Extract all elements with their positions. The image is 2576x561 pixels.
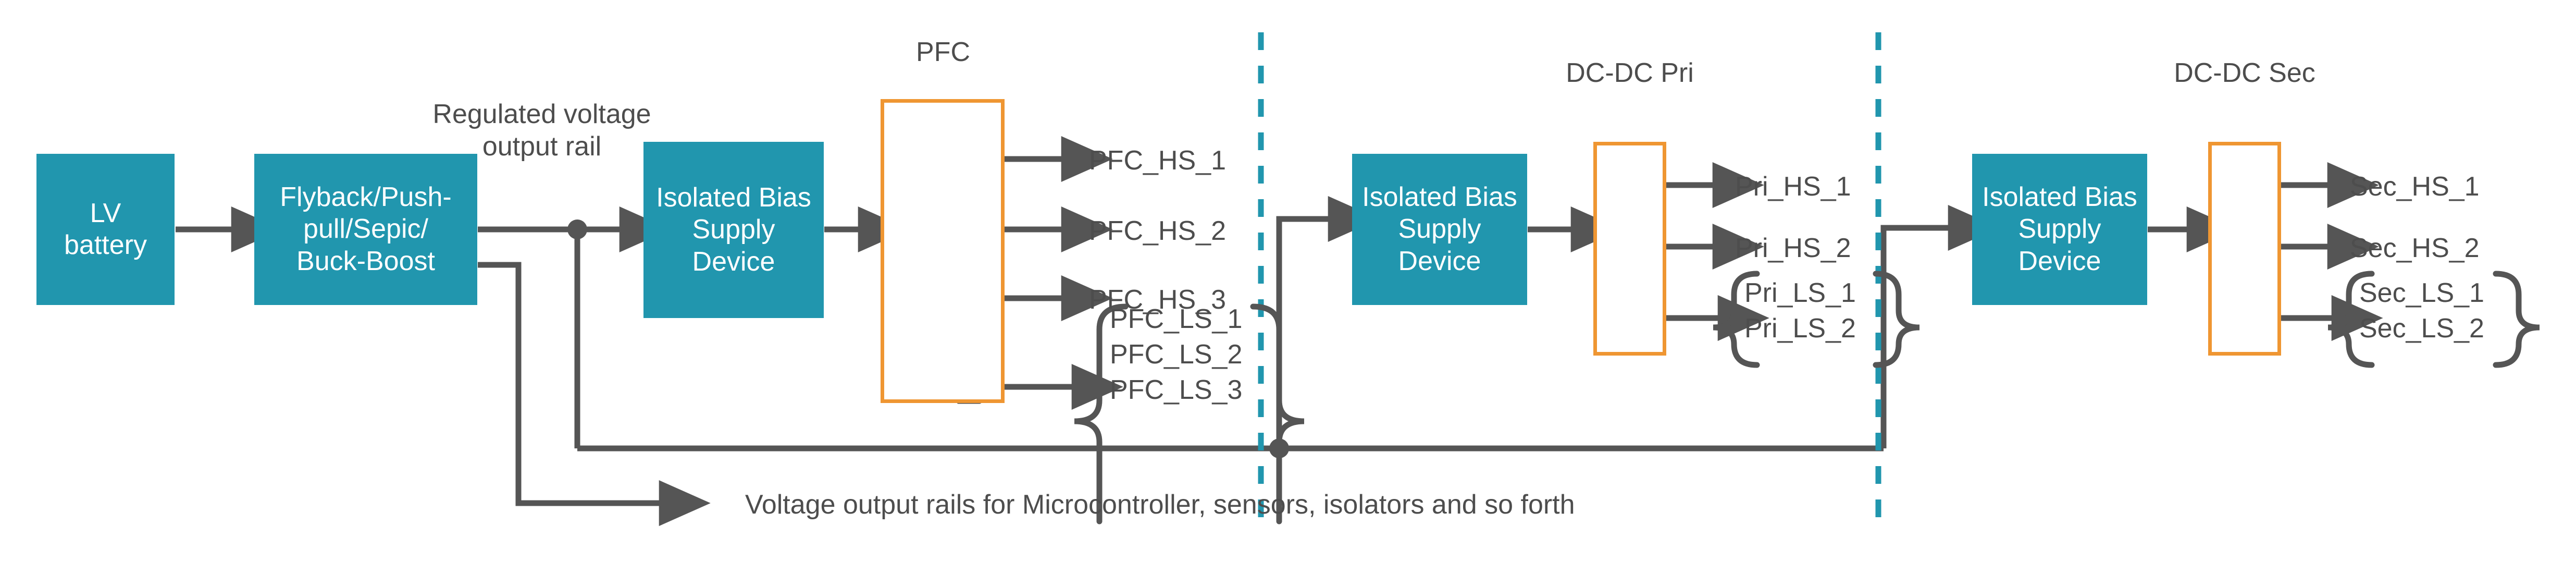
block-flyback-converter[interactable]: Flyback/Push- pull/Sepic/ Buck-Boost bbox=[254, 154, 477, 305]
dcdcsec-transformer-title: DC-DC Sec bbox=[2156, 57, 2333, 89]
output-label-sec-ls-1: Sec_LS_1 bbox=[2359, 276, 2484, 310]
output-label-pfc-hs-2: PFC_HS_2 bbox=[1089, 215, 1226, 247]
block-isolated-bias-supply-1-label: Isolated Bias Supply Device bbox=[656, 182, 811, 278]
block-isolated-bias-supply-3-label: Isolated Bias Supply Device bbox=[1982, 181, 2137, 277]
pfc-transformer-box bbox=[881, 99, 1005, 403]
block-isolated-bias-supply-1[interactable]: Isolated Bias Supply Device bbox=[643, 142, 824, 318]
output-label-pri-hs-1: Pri_HS_1 bbox=[1735, 170, 1851, 203]
output-label-sec-hs-2: Sec_HS_2 bbox=[2350, 232, 2480, 264]
block-lv-battery-label: LV battery bbox=[64, 198, 147, 262]
output-label-pri-hs-2: Pri_HS_2 bbox=[1735, 232, 1851, 264]
block-isolated-bias-supply-2[interactable]: Isolated Bias Supply Device bbox=[1352, 154, 1527, 305]
output-label-pfc-ls-1: PFC_LS_1 bbox=[1110, 302, 1242, 336]
junction-dot-rail bbox=[567, 219, 587, 239]
dcdcpri-transformer-box bbox=[1593, 142, 1666, 356]
pfc-transformer-title: PFC bbox=[854, 36, 1032, 68]
block-diagram-canvas: LV battery Flyback/Push- pull/Sepic/ Buc… bbox=[0, 0, 2576, 561]
output-label-sec-ls-2: Sec_LS_2 bbox=[2359, 312, 2484, 345]
output-label-pfc-hs-1: PFC_HS_1 bbox=[1089, 144, 1226, 177]
output-label-pri-ls-1: Pri_LS_1 bbox=[1744, 276, 1856, 310]
output-label-pfc-ls-3: PFC_LS_3 bbox=[1110, 373, 1242, 407]
block-isolated-bias-supply-3[interactable]: Isolated Bias Supply Device bbox=[1972, 154, 2147, 305]
output-label-pri-ls-2: Pri_LS_2 bbox=[1744, 312, 1856, 345]
micro-rails-caption: Voltage output rails for Microcontroller… bbox=[745, 489, 1575, 521]
wire-flyback-to-micro-rails bbox=[478, 265, 661, 503]
dcdcpri-transformer-title: DC-DC Pri bbox=[1541, 57, 1718, 89]
output-label-pfc-ls-2: PFC_LS_2 bbox=[1110, 338, 1242, 371]
block-flyback-converter-label: Flyback/Push- pull/Sepic/ Buck-Boost bbox=[280, 181, 451, 277]
regulated-voltage-rail-label: Regulated voltage output rail bbox=[412, 98, 672, 163]
dcdcsec-transformer-box bbox=[2208, 142, 2281, 356]
wire-bus-to-bias3 bbox=[1884, 228, 1950, 448]
block-lv-battery[interactable]: LV battery bbox=[36, 154, 175, 305]
block-isolated-bias-supply-2-label: Isolated Bias Supply Device bbox=[1362, 181, 1517, 277]
output-label-sec-hs-1: Sec_HS_1 bbox=[2350, 170, 2480, 203]
